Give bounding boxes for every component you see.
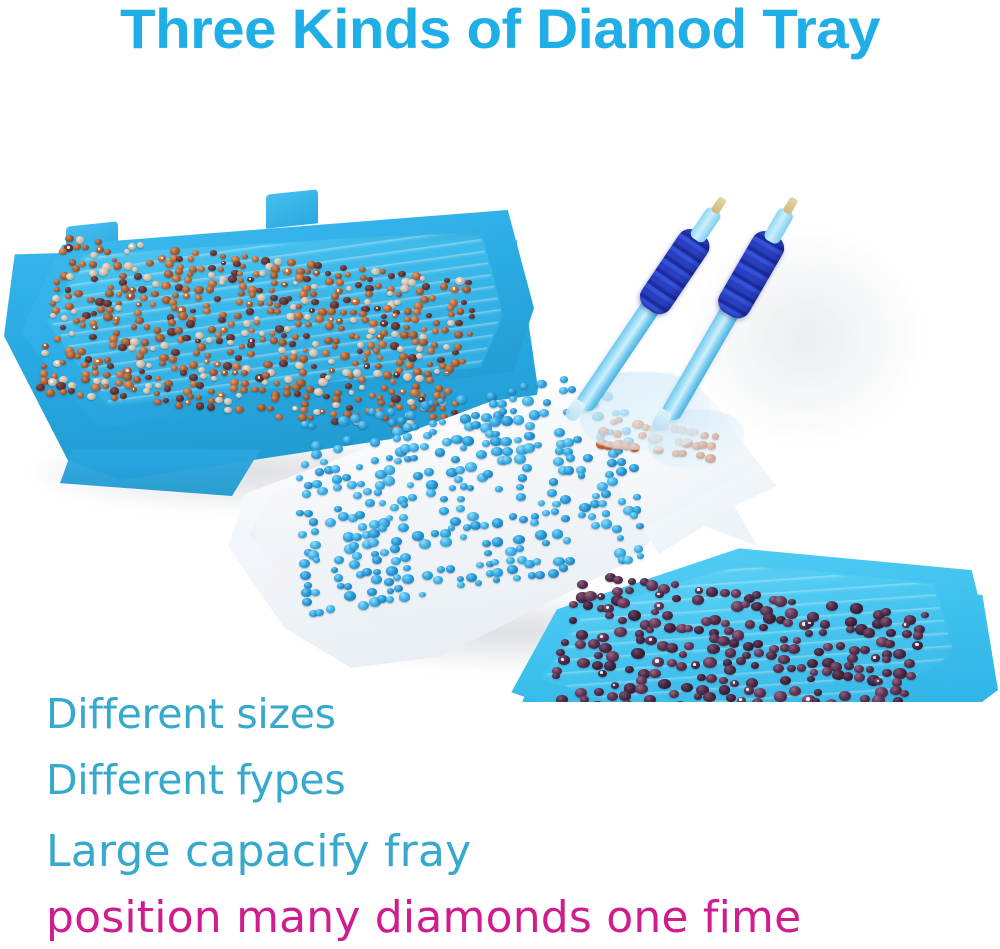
- diamond-bead: [465, 462, 477, 472]
- diamond-bead: [145, 375, 152, 381]
- diamond-bead: [719, 677, 728, 685]
- diamond-bead: [785, 608, 798, 619]
- diamond-bead: [216, 338, 223, 343]
- diamond-bead: [384, 465, 396, 475]
- diamond-bead: [469, 314, 475, 319]
- diamond-bead-sparkle: [219, 394, 221, 396]
- diamond-bead: [388, 419, 397, 426]
- diamond-bead: [298, 531, 307, 538]
- diamond-bead: [419, 539, 431, 548]
- diamond-bead: [449, 485, 456, 491]
- diamond-bead: [295, 321, 303, 327]
- diamond-bead: [66, 273, 74, 280]
- diamond-bead: [820, 620, 830, 628]
- diamond-bead: [357, 342, 364, 348]
- diamond-bead: [404, 325, 410, 330]
- diamond-bead: [160, 342, 169, 349]
- diamond-bead-sparkle: [353, 300, 356, 303]
- diamond-bead: [371, 575, 382, 584]
- diamond-bead: [103, 372, 111, 379]
- diamond-bead: [309, 518, 318, 525]
- diamond-bead: [631, 648, 645, 659]
- diamond-bead: [228, 321, 235, 327]
- diamond-bead: [508, 388, 516, 395]
- diamond-bead: [766, 651, 777, 660]
- diamond-bead: [628, 578, 636, 585]
- diamond-bead-sparkle: [697, 588, 700, 591]
- diamond-bead: [133, 376, 141, 383]
- diamond-bead: [651, 609, 659, 616]
- diamond-bead: [155, 376, 161, 381]
- diamond-bead: [443, 344, 450, 350]
- diamond-bead: [89, 334, 97, 341]
- diamond-bead-sparkle: [179, 308, 182, 311]
- diamond-bead: [106, 307, 114, 313]
- diamond-bead: [826, 699, 837, 702]
- diamond-bead: [289, 341, 296, 346]
- diamond-bead: [554, 428, 565, 437]
- diamond-bead: [860, 695, 870, 702]
- diamond-bead: [186, 320, 195, 328]
- diamond-bead: [404, 308, 413, 315]
- diamond-bead: [863, 628, 875, 637]
- diamond-bead: [311, 284, 318, 289]
- diamond-bead: [331, 293, 339, 299]
- diamond-bead: [625, 666, 634, 673]
- diamond-bead: [206, 337, 213, 343]
- diamond-bead: [77, 392, 84, 398]
- diamond-bead: [513, 415, 525, 425]
- diamond-bead: [344, 583, 352, 590]
- diamond-bead: [444, 278, 450, 283]
- diamond-bead: [569, 601, 578, 608]
- diamond-bead: [178, 312, 188, 320]
- diamond-bead: [539, 409, 549, 417]
- diamond-bead: [560, 495, 571, 504]
- diamond-bead: [374, 489, 383, 496]
- diamond-bead: [501, 416, 513, 426]
- diamond-bead: [774, 691, 787, 702]
- diamond-bead: [460, 534, 468, 540]
- diamond-bead: [666, 643, 678, 653]
- diamond-bead: [103, 313, 112, 321]
- diamond-bead-sparkle: [130, 245, 132, 247]
- diamond-bead: [604, 661, 615, 670]
- diamond-bead: [340, 310, 346, 315]
- diamond-bead: [741, 601, 750, 608]
- diamond-bead: [471, 412, 480, 419]
- diamond-bead-sparkle: [808, 622, 811, 625]
- diamond-bead: [79, 261, 86, 267]
- diamond-bead: [514, 454, 526, 464]
- diamond-bead: [467, 485, 475, 491]
- diamond-bead: [564, 466, 574, 475]
- diamond-bead: [583, 601, 594, 610]
- diamond-bead: [332, 475, 342, 483]
- diamond-bead: [182, 335, 190, 342]
- diamond-bead: [161, 282, 171, 290]
- diamond-bead: [89, 261, 97, 268]
- diamond-bead: [534, 442, 542, 448]
- diamond-bead: [461, 300, 467, 305]
- diamond-bead: [73, 244, 80, 250]
- diamond-bead: [658, 679, 671, 689]
- diamond-bead: [390, 545, 399, 553]
- diamond-bead: [355, 511, 365, 519]
- diamond-bead: [413, 309, 421, 315]
- diamond-bead: [175, 268, 184, 275]
- diamond-bead: [396, 292, 402, 297]
- diamond-bead: [309, 308, 315, 313]
- diamond-bead: [215, 332, 222, 338]
- diamond-bead: [134, 273, 142, 280]
- diamond-bead: [76, 236, 85, 243]
- diamond-bead-sparkle: [115, 317, 117, 319]
- diamond-bead: [205, 353, 211, 358]
- diamond-bead-sparkle: [283, 283, 285, 285]
- diamond-bead: [752, 591, 761, 598]
- diamond-bead: [370, 438, 380, 447]
- diamond-bead: [636, 636, 646, 644]
- diamond-bead: [617, 458, 627, 466]
- diamond-bead: [400, 331, 409, 339]
- diamond-bead: [577, 658, 590, 669]
- diamond-bead: [416, 288, 424, 294]
- diamond-bead: [502, 447, 513, 456]
- diamond-bead: [446, 565, 455, 573]
- diamond-bead: [343, 436, 352, 444]
- diamond-bead: [525, 422, 535, 430]
- diamond-bead-sparkle: [453, 287, 456, 290]
- diamond-bead: [359, 311, 367, 317]
- diamond-bead: [274, 309, 281, 314]
- diamond-bead: [184, 277, 192, 284]
- diamond-bead: [331, 465, 340, 472]
- diamond-bead: [413, 472, 423, 480]
- diamond-bead: [400, 553, 411, 562]
- diamond-bead: [386, 455, 393, 461]
- diamond-bead: [170, 247, 180, 255]
- diamond-bead: [215, 397, 223, 403]
- diamond-bead-sparkle: [915, 643, 918, 646]
- diamond-bead: [257, 294, 266, 301]
- diamond-bead: [302, 598, 312, 606]
- diamond-bead: [310, 291, 317, 297]
- diamond-bead: [522, 464, 532, 472]
- diamond-bead: [246, 308, 254, 314]
- diamond-bead: [411, 316, 419, 323]
- diamond-bead: [252, 256, 259, 262]
- diamond-bead: [208, 398, 215, 404]
- diamond-bead: [451, 456, 460, 463]
- pen-right-tip: [782, 196, 798, 215]
- diamond-bead: [420, 443, 429, 450]
- diamond-bead: [681, 683, 693, 693]
- diamond-bead: [97, 306, 105, 313]
- diamond-bead-sparkle: [376, 307, 378, 309]
- diamond-bead: [516, 493, 526, 501]
- diamond-bead: [635, 684, 648, 694]
- diamond-bead: [514, 437, 521, 443]
- diamond-bead: [431, 530, 439, 536]
- diamond-bead: [315, 468, 325, 476]
- diamond-bead: [74, 290, 83, 298]
- diamond-bead: [580, 696, 589, 702]
- diamond-bead: [854, 665, 864, 673]
- diamond-bead: [91, 311, 97, 316]
- diamond-bead: [399, 592, 411, 601]
- diamond-bead: [707, 644, 720, 655]
- diamond-bead: [286, 296, 292, 301]
- diamond-bead: [82, 245, 89, 251]
- diamond-bead: [402, 574, 414, 584]
- diamond-bead: [725, 648, 737, 658]
- diamond-bead: [675, 701, 685, 702]
- diamond-bead-sparkle: [330, 318, 332, 320]
- diamond-bead: [141, 339, 149, 345]
- diamond-bead: [412, 339, 419, 345]
- diamond-bead: [457, 576, 465, 582]
- diamond-bead: [131, 324, 138, 329]
- diamond-bead: [509, 396, 517, 402]
- diamond-bead: [646, 580, 659, 590]
- diamond-bead: [408, 331, 418, 339]
- diamond-bead: [154, 327, 162, 333]
- diamond-bead: [731, 589, 742, 598]
- diamond-bead: [440, 537, 452, 547]
- product-photo: [0, 62, 1000, 702]
- diamond-bead: [308, 423, 316, 430]
- diamond-bead: [270, 295, 278, 301]
- diamond-bead: [175, 402, 183, 408]
- diamond-bead: [428, 400, 435, 406]
- diamond-bead: [694, 626, 704, 634]
- diamond-bead: [913, 631, 923, 639]
- diamond-bead: [340, 265, 347, 271]
- diamond-bead: [249, 328, 255, 333]
- diamond-bead: [91, 276, 99, 282]
- diamond-bead: [387, 291, 393, 296]
- diamond-bead: [822, 667, 832, 675]
- diamond-bead: [518, 474, 527, 481]
- diamond-bead: [410, 455, 418, 461]
- diamond-bead: [146, 363, 152, 368]
- diamond-bead: [617, 598, 630, 608]
- diamond-bead: [171, 349, 180, 356]
- diamond-bead: [350, 310, 357, 315]
- diamond-bead: [206, 286, 214, 292]
- diamond-bead: [881, 608, 891, 616]
- diamond-bead: [812, 698, 820, 702]
- diamond-bead: [338, 416, 350, 426]
- diamond-bead: [433, 320, 440, 326]
- diamond-bead: [214, 296, 221, 302]
- diamond-bead: [393, 435, 402, 442]
- diamond-bead: [743, 642, 754, 651]
- diamond-bead: [41, 364, 47, 369]
- diamond-bead: [900, 690, 909, 697]
- diamond-bead: [440, 496, 448, 502]
- diamond-bead: [303, 333, 311, 339]
- diamond-bead: [753, 640, 762, 648]
- diamond-bead: [457, 308, 465, 314]
- diamond-bead: [664, 623, 676, 633]
- diamond-bead: [363, 488, 372, 495]
- diamond-bead: [144, 324, 151, 330]
- diamond-bead: [240, 264, 246, 269]
- diamond-bead: [736, 657, 746, 665]
- diamond-bead: [759, 624, 768, 631]
- diamond-bead: [616, 467, 627, 476]
- diamond-bead: [763, 613, 777, 624]
- diamond-bead: [196, 402, 205, 409]
- diamond-bead: [358, 601, 370, 611]
- diamond-bead: [211, 376, 218, 381]
- diamond-bead: [311, 450, 322, 459]
- diamond-bead: [203, 308, 210, 314]
- diamond-bead: [278, 339, 287, 346]
- diamond-bead: [195, 295, 202, 301]
- diamond-bead: [605, 612, 614, 619]
- diamond-bead: [95, 239, 102, 245]
- diamond-bead: [198, 266, 205, 272]
- diamond-bead: [150, 302, 156, 307]
- diamond-bead: [154, 391, 160, 396]
- diamond-bead: [880, 617, 892, 627]
- diamond-bead: [172, 293, 179, 299]
- diamond-bead: [93, 378, 100, 384]
- diamond-bead: [269, 288, 275, 293]
- diamond-bead: [839, 691, 851, 701]
- diamond-bead: [684, 642, 694, 651]
- diamond-bead: [709, 615, 721, 625]
- diamond-bead: [454, 476, 463, 483]
- diamond-bead: [165, 260, 174, 267]
- diamond-bead: [292, 334, 299, 340]
- diamond-bead: [304, 510, 313, 517]
- diamond-bead: [388, 273, 395, 279]
- diamond-bead: [111, 395, 118, 401]
- diamond-bead: [456, 395, 468, 404]
- diamond-bead: [368, 538, 379, 547]
- diamond-bead: [854, 673, 865, 682]
- diamond-bead: [441, 327, 448, 333]
- diamond-bead: [333, 484, 341, 491]
- diamond-bead: [408, 494, 417, 502]
- diamond-bead: [198, 367, 205, 373]
- diamond-bead: [325, 278, 334, 285]
- diamond-bead: [256, 288, 263, 294]
- diamond-bead: [408, 279, 416, 286]
- diamond-bead: [349, 560, 360, 569]
- diamond-bead: [326, 605, 335, 612]
- diamond-bead: [358, 421, 368, 429]
- diamond-bead-sparkle: [458, 279, 461, 282]
- diamond-bead: [50, 313, 56, 318]
- diamond-bead: [375, 411, 385, 419]
- diamond-bead: [646, 627, 654, 634]
- diamond-bead: [601, 490, 611, 498]
- diamond-bead: [424, 468, 434, 476]
- diamond-bead: [429, 429, 437, 435]
- feature-line-3: Large capacify fray: [46, 826, 471, 877]
- diamond-bead: [703, 657, 717, 668]
- diamond-bead: [793, 637, 801, 644]
- diamond-bead: [495, 486, 502, 492]
- diamond-bead: [549, 478, 558, 486]
- diamond-bead: [872, 695, 885, 703]
- diamond-bead: [561, 639, 569, 646]
- diamond-bead: [420, 276, 426, 281]
- diamond-bead: [103, 300, 112, 307]
- diamond-bead: [136, 360, 145, 368]
- diamond-bead: [333, 445, 343, 453]
- diamond-bead: [275, 325, 285, 333]
- diamond-bead: [426, 489, 436, 497]
- diamond-bead: [406, 411, 416, 419]
- diamond-bead: [310, 541, 320, 549]
- diamond-bead: [354, 335, 360, 340]
- diamond-bead: [155, 334, 165, 342]
- diamond-bead: [188, 256, 195, 261]
- diamond-bead: [243, 320, 251, 326]
- diamond-bead: [451, 435, 463, 445]
- diamond-bead: [613, 576, 623, 584]
- diamond-bead: [594, 652, 602, 659]
- diamond-bead: [390, 504, 398, 511]
- diamond-bead: [904, 659, 915, 668]
- diamond-bead: [721, 620, 730, 627]
- diamond-bead: [87, 393, 96, 400]
- diamond-bead: [375, 283, 382, 289]
- diamond-bead: [500, 437, 512, 447]
- diamond-bead: [60, 389, 67, 395]
- diamond-bead: [352, 552, 362, 560]
- diamond-bead: [75, 354, 81, 359]
- diamond-bead: [164, 386, 171, 392]
- diamond-bead: [426, 313, 432, 318]
- diamond-bead: [92, 370, 100, 376]
- diamond-bead: [311, 589, 320, 596]
- diamond-bead: [372, 556, 382, 564]
- diamond-bead: [209, 369, 218, 376]
- diamond-bead: [301, 461, 310, 468]
- diamond-bead: [65, 287, 72, 292]
- diamond-bead: [843, 672, 854, 681]
- diamond-bead: [99, 268, 109, 276]
- diamond-bead: [189, 361, 199, 369]
- diamond-bead-sparkle: [126, 369, 129, 372]
- diamond-bead: [371, 457, 379, 464]
- diamond-bead: [247, 342, 255, 348]
- feature-line-2: Different fypes: [46, 756, 345, 804]
- diamond-bead: [465, 280, 472, 285]
- diamond-bead: [516, 484, 524, 490]
- diamond-bead: [577, 580, 588, 589]
- diamond-bead: [819, 629, 827, 636]
- diamond-bead: [140, 295, 148, 301]
- feature-line-4: position many diamonds one fime: [46, 892, 801, 943]
- diamond-bead: [107, 363, 114, 369]
- diamond-bead: [469, 308, 475, 313]
- diamond-bead: [850, 603, 863, 613]
- diamond-bead: [625, 587, 634, 594]
- diamond-bead-sparkle: [50, 380, 53, 383]
- diamond-bead: [359, 267, 366, 273]
- diamond-bead: [208, 272, 215, 278]
- diamond-bead: [628, 610, 641, 621]
- diamond-bead: [662, 611, 673, 620]
